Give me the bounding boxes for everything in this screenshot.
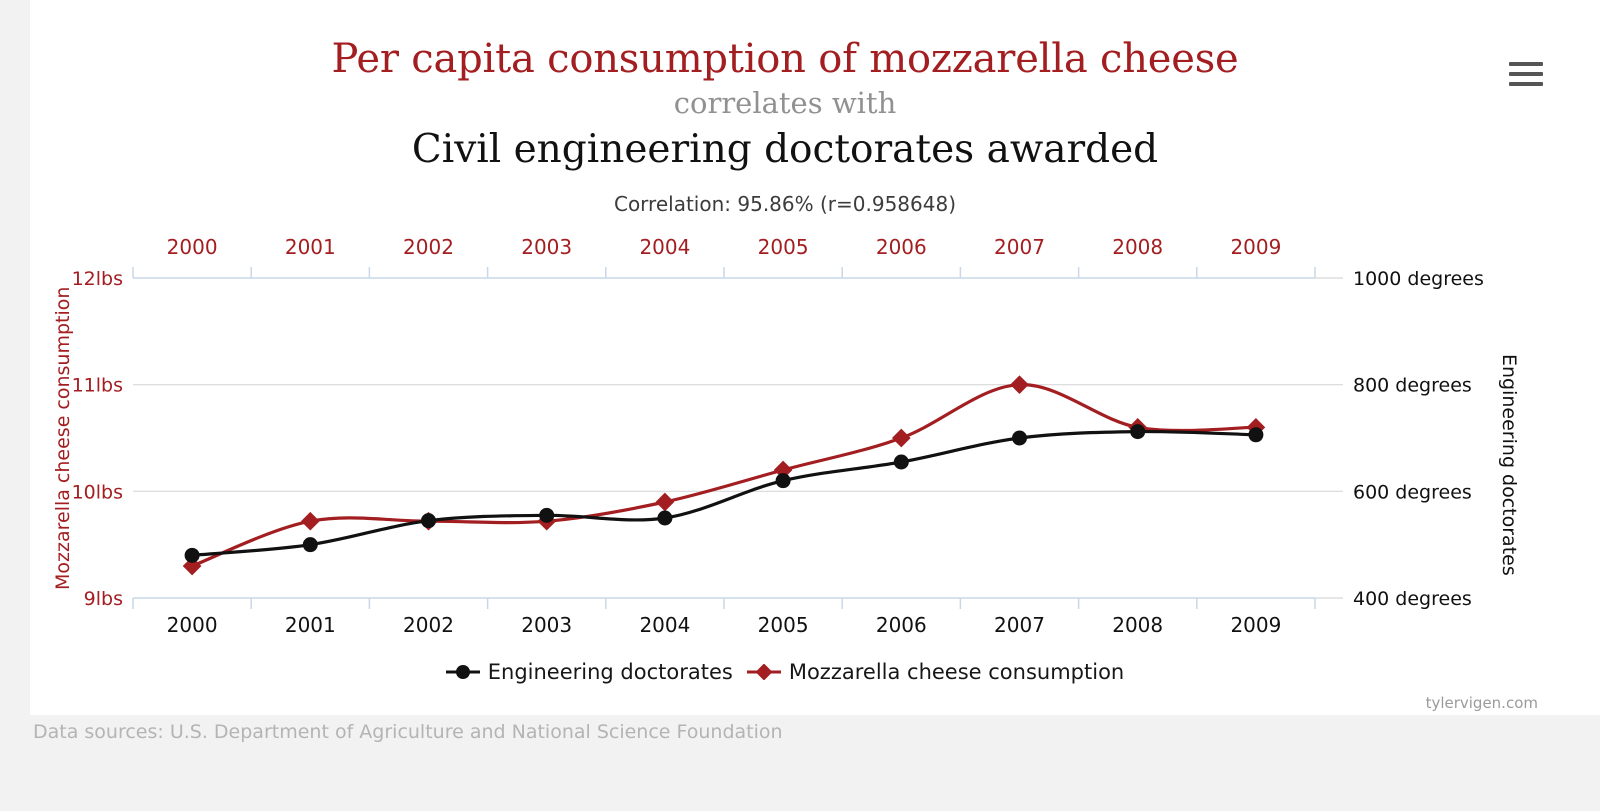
series-line-doctorates (192, 432, 1256, 556)
x-axis-label-bottom: 2003 (521, 613, 572, 637)
diamond-marker-icon (747, 664, 781, 680)
legend-item-doctorates[interactable]: Engineering doctorates (446, 660, 733, 684)
x-axis-label-bottom: 2009 (1230, 613, 1281, 637)
data-point-doctorates[interactable] (1012, 431, 1027, 446)
legend-label-doctorates: Engineering doctorates (488, 660, 733, 684)
hamburger-menu-icon[interactable] (1509, 62, 1543, 92)
x-axis-label-top: 2008 (1112, 235, 1163, 259)
legend-label-mozzarella: Mozzarella cheese consumption (789, 660, 1124, 684)
x-axis-label-bottom: 2001 (285, 613, 336, 637)
left-axis-tick-label: 11lbs (72, 375, 123, 397)
series-line-mozzarella (192, 385, 1256, 566)
x-axis-label-bottom: 2002 (403, 613, 454, 637)
left-axis-tick-label: 9lbs (84, 588, 123, 610)
right-axis-tick-label: 1000 degrees (1353, 268, 1484, 290)
chart-page: Per capita consumption of mozzarella che… (0, 0, 1600, 811)
data-point-mozzarella[interactable] (301, 512, 320, 531)
x-axis-label-bottom: 2008 (1112, 613, 1163, 637)
x-axis-label-bottom: 2000 (167, 613, 218, 637)
x-axis-label-top: 2007 (994, 235, 1045, 259)
data-sources-note: Data sources: U.S. Department of Agricul… (33, 721, 783, 743)
data-point-mozzarella[interactable] (1010, 375, 1029, 394)
x-axis-label-top: 2004 (639, 235, 690, 259)
data-point-mozzarella[interactable] (656, 493, 675, 512)
data-point-doctorates[interactable] (657, 511, 672, 526)
data-point-doctorates[interactable] (421, 513, 436, 528)
x-axis-label-top: 2006 (876, 235, 927, 259)
chart-svg: 12lbs11lbs10lbs9lbs1000 degrees800 degre… (0, 0, 1570, 715)
plot-area: 12lbs11lbs10lbs9lbs1000 degrees800 degre… (0, 0, 1570, 715)
site-watermark: tylervigen.com (1426, 694, 1538, 712)
data-point-doctorates[interactable] (1130, 424, 1145, 439)
x-axis-label-bottom: 2005 (758, 613, 809, 637)
x-axis-label-top: 2005 (758, 235, 809, 259)
circle-marker-icon (446, 664, 480, 680)
data-point-doctorates[interactable] (894, 455, 909, 470)
x-axis-label-top: 2009 (1230, 235, 1281, 259)
hamburger-bar-3 (1509, 82, 1543, 86)
x-axis-label-bottom: 2007 (994, 613, 1045, 637)
legend-item-mozzarella[interactable]: Mozzarella cheese consumption (747, 660, 1124, 684)
left-axis-tick-label: 12lbs (72, 268, 123, 290)
data-point-doctorates[interactable] (303, 537, 318, 552)
right-axis-tick-label: 600 degrees (1353, 481, 1472, 503)
left-axis-tick-label: 10lbs (72, 481, 123, 503)
chart-legend: Engineering doctorates Mozzarella cheese… (0, 660, 1570, 684)
x-axis-label-bottom: 2006 (876, 613, 927, 637)
x-axis-label-top: 2000 (167, 235, 218, 259)
x-axis-label-top: 2002 (403, 235, 454, 259)
x-axis-label-top: 2001 (285, 235, 336, 259)
data-point-doctorates[interactable] (776, 473, 791, 488)
right-axis-tick-label: 800 degrees (1353, 375, 1472, 397)
data-point-doctorates[interactable] (1248, 427, 1263, 442)
hamburger-bar-1 (1509, 62, 1543, 66)
right-axis-tick-label: 400 degrees (1353, 588, 1472, 610)
hamburger-bar-2 (1509, 72, 1543, 76)
data-point-mozzarella[interactable] (892, 429, 911, 448)
data-point-doctorates[interactable] (185, 548, 200, 563)
x-axis-label-bottom: 2004 (639, 613, 690, 637)
data-point-doctorates[interactable] (539, 508, 554, 523)
x-axis-label-top: 2003 (521, 235, 572, 259)
